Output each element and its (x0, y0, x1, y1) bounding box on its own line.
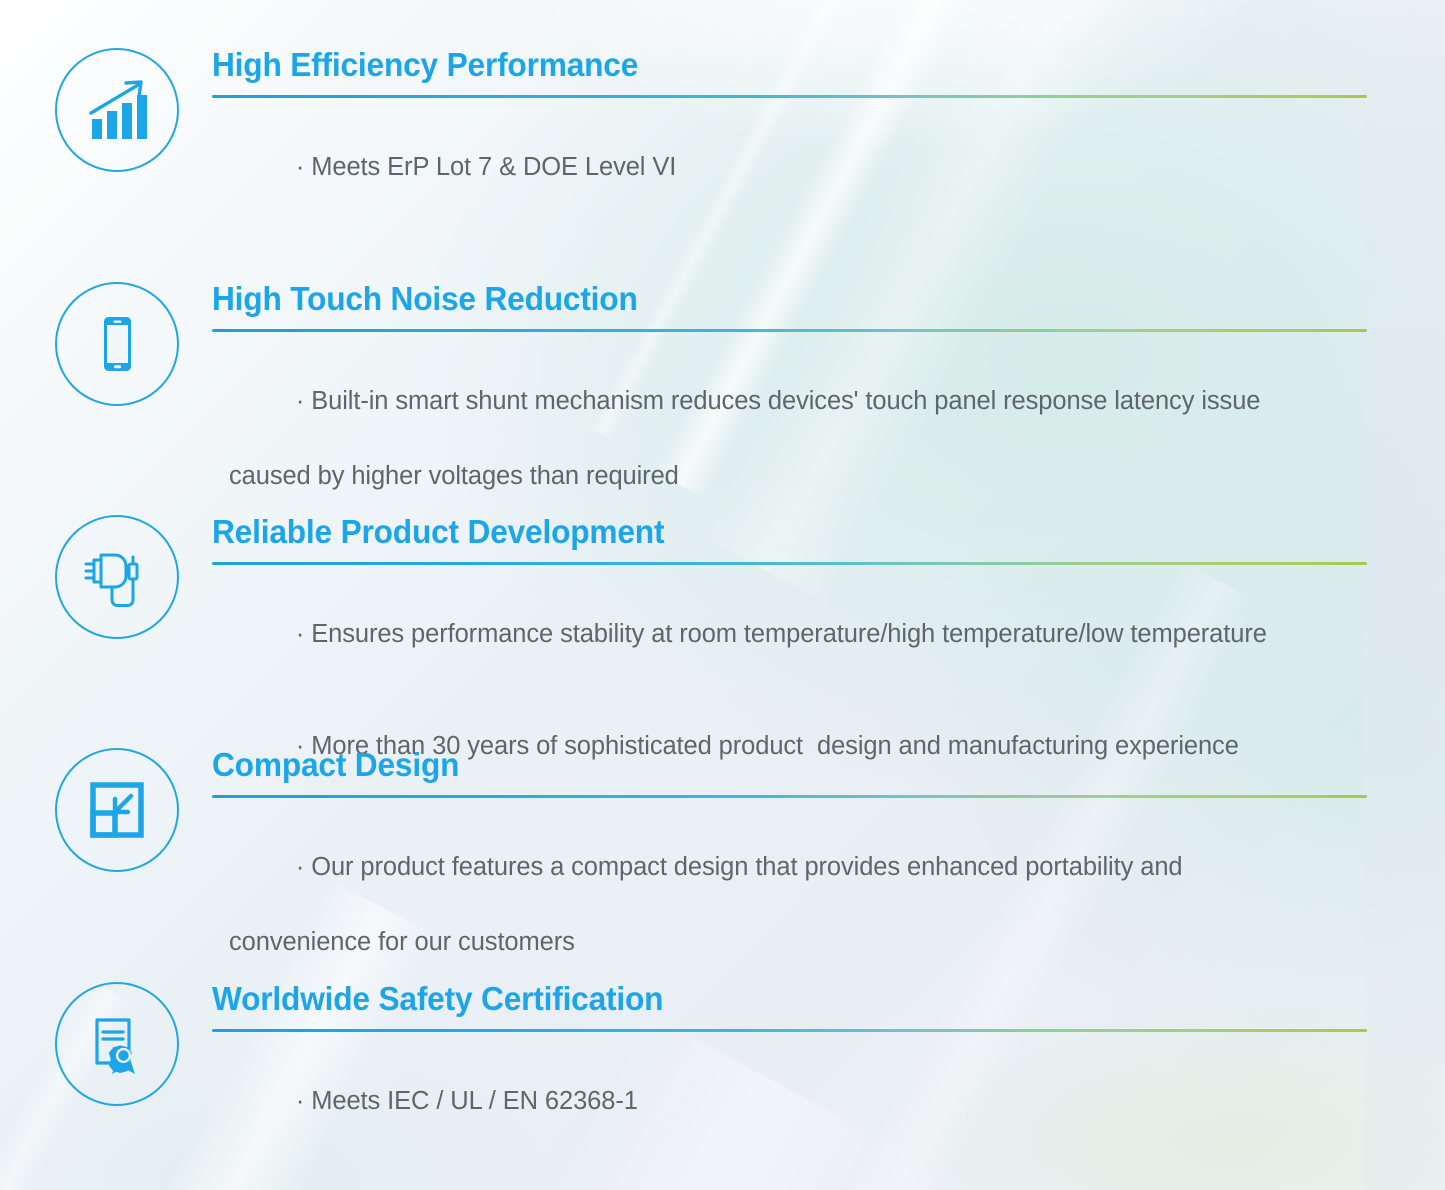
certificate-award-icon (55, 982, 179, 1106)
bullet-mark: · (296, 853, 311, 881)
line-text: Our product features a compact design th… (311, 853, 1182, 881)
feature-icon-container (55, 282, 179, 406)
bullet-mark: · (296, 620, 311, 648)
feature-divider-rule (212, 562, 1367, 565)
feature-title: Worldwide Safety Certification (212, 982, 1321, 1017)
feature-icon-container (55, 982, 179, 1106)
bullet-mark: · (296, 1087, 311, 1115)
line-text: Ensures performance stability at room te… (311, 620, 1267, 648)
feature-title: High Touch Noise Reduction (212, 282, 1321, 317)
feature-divider-rule (212, 95, 1367, 98)
feature-description-list: · Meets ErP Lot 7 & DOE Level VI (212, 112, 1367, 224)
feature-title: Compact Design (212, 748, 1321, 783)
feature-text-block: High Efficiency Performance · Meets ErP … (212, 48, 1367, 224)
line-text-continuation: caused by higher voltages than required (212, 458, 1367, 495)
line-text: Meets IEC / UL / EN 62368-1 (311, 1087, 638, 1115)
feature-divider-rule (212, 795, 1367, 798)
feature-title: High Efficiency Performance (212, 48, 1321, 83)
feature-description-list: · Meets IEC / UL / EN 62368-1 (212, 1046, 1367, 1158)
line-text-continuation: convenience for our customers (212, 924, 1367, 961)
line-text: Built-in smart shunt mechanism reduces d… (311, 387, 1260, 415)
feature-description-line: · Meets IEC / UL / EN 62368-1 (212, 1046, 1367, 1158)
feature-divider-rule (212, 1029, 1367, 1032)
feature-icon-container (55, 515, 179, 639)
bullet-mark: · (296, 153, 311, 181)
feature-icon-container (55, 748, 179, 872)
feature-title: Reliable Product Development (212, 515, 1321, 550)
feature-text-block: Worldwide Safety Certification · Meets I… (212, 982, 1367, 1158)
feature-highlights-page: High Efficiency Performance · Meets ErP … (0, 0, 1445, 1190)
feature-description-line: · Ensures performance stability at room … (212, 579, 1367, 691)
bar-chart-growth-icon (55, 48, 179, 172)
compact-resize-icon (55, 748, 179, 872)
feature-description-line: · Meets ErP Lot 7 & DOE Level VI (212, 112, 1367, 224)
power-adapter-icon (55, 515, 179, 639)
smartphone-icon (55, 282, 179, 406)
feature-divider-rule (212, 329, 1367, 332)
bullet-mark: · (296, 387, 311, 415)
feature-icon-container (55, 48, 179, 172)
feature-list: High Efficiency Performance · Meets ErP … (0, 0, 1445, 1190)
line-text: Meets ErP Lot 7 & DOE Level VI (311, 153, 676, 181)
